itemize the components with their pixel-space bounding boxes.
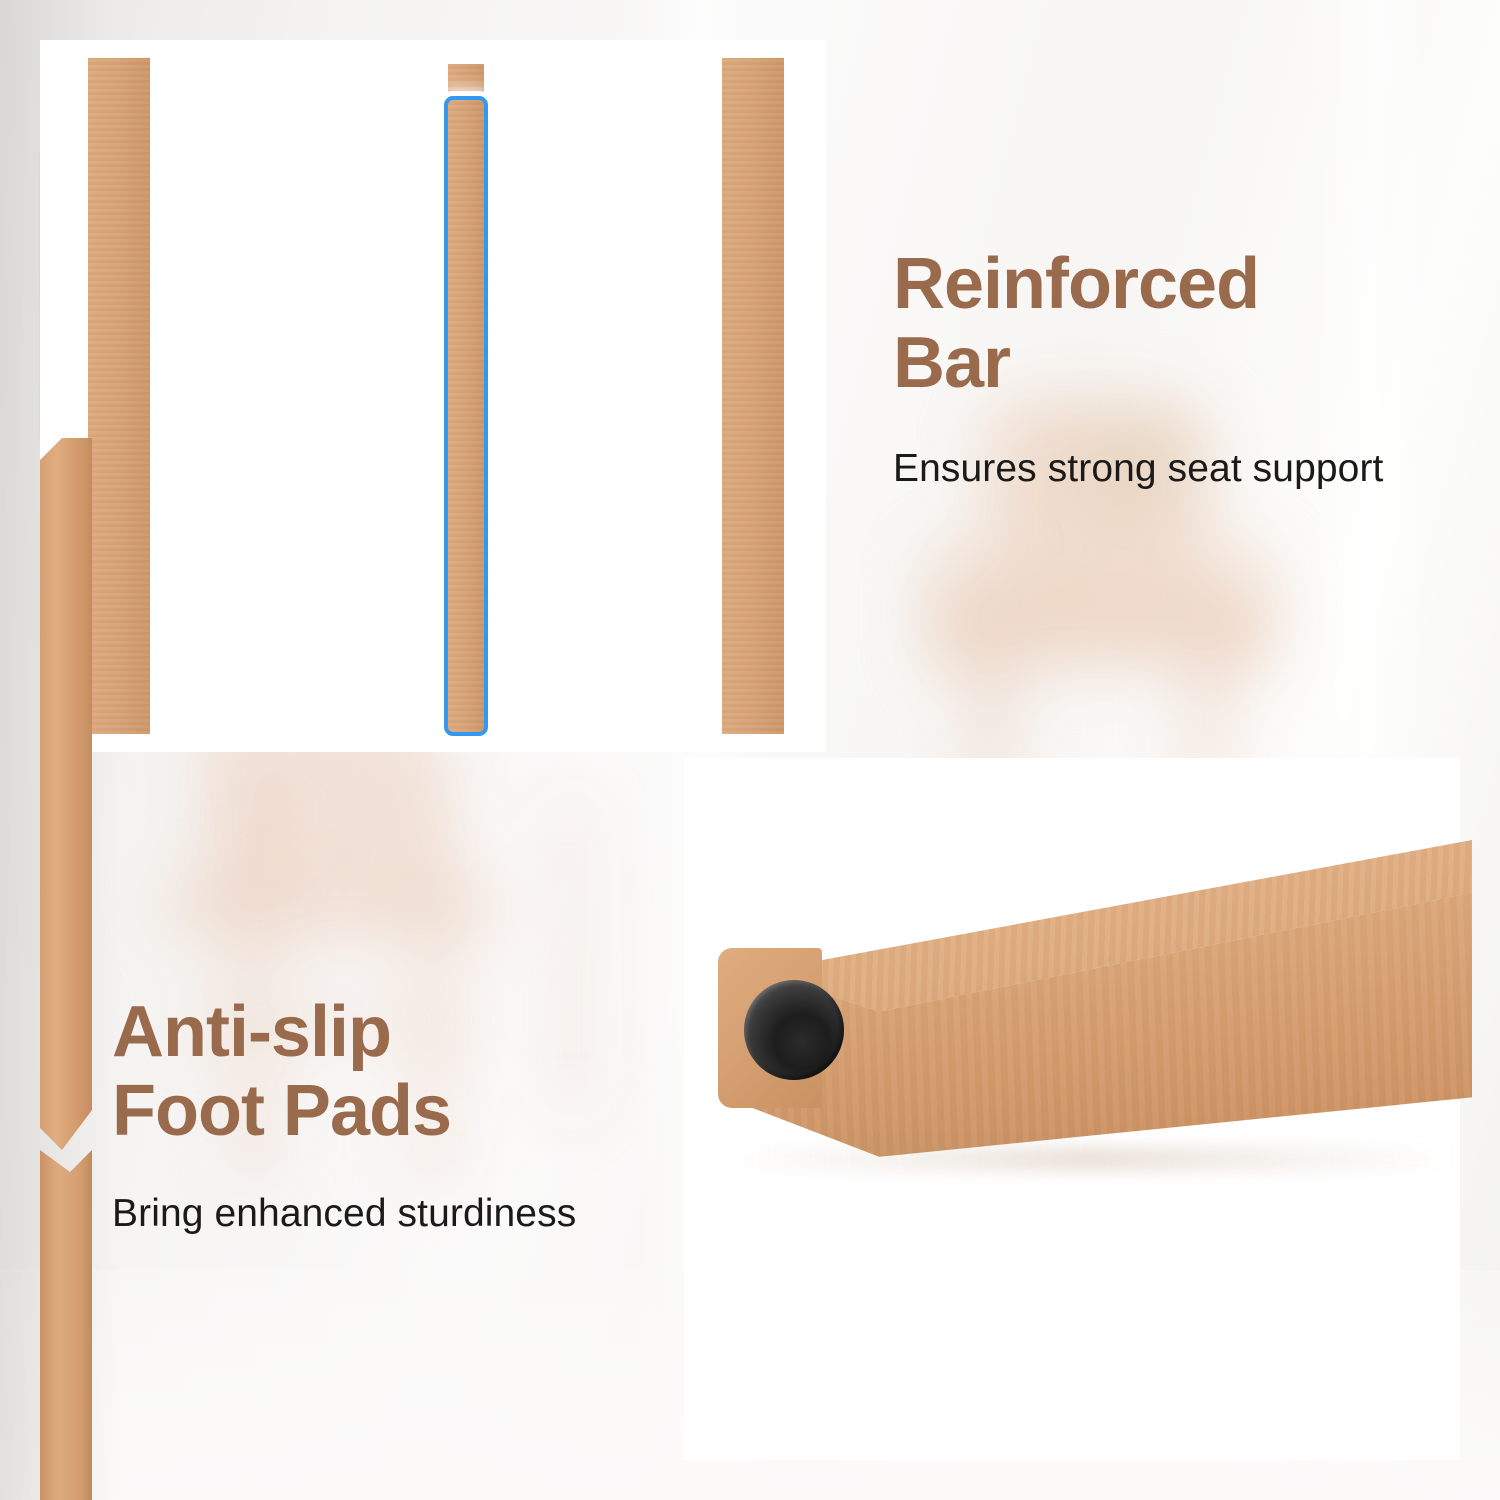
feature-2-subtitle: Bring enhanced sturdiness [112,1192,576,1236]
feature-1-title: Reinforced Bar [893,245,1453,403]
feature-2-title-line-1: Anti-slip [112,993,632,1072]
feature-2-title-line-2: Foot Pads [112,1072,632,1151]
anti-slip-foot-pad [744,980,844,1080]
chair-leg-shadow [724,1146,1454,1172]
frame-corner-post-left [40,438,92,1150]
feature-1-subtitle: Ensures strong seat support [893,447,1383,491]
seat-frame-underside-photo [40,40,826,752]
chair-leg-foot-pad-photo [684,758,1460,1460]
background-chair-right-seat [935,600,1265,662]
photo-backdrop [40,40,826,752]
background-chair-right-back [985,400,1210,615]
frame-left-stile [88,58,150,734]
frame-right-stile [722,58,784,734]
product-feature-collage: Reinforced Bar Ensures strong seat suppo… [0,0,1500,1500]
frame-corner-post-right [40,1150,92,1500]
reinforced-bar-highlight [444,96,488,736]
feature-1-title-line-2: Bar [893,324,1453,403]
chair-leg [712,840,1472,1170]
feature-1-title-line-1: Reinforced [893,245,1453,324]
feature-2-title: Anti-slip Foot Pads [112,993,632,1151]
